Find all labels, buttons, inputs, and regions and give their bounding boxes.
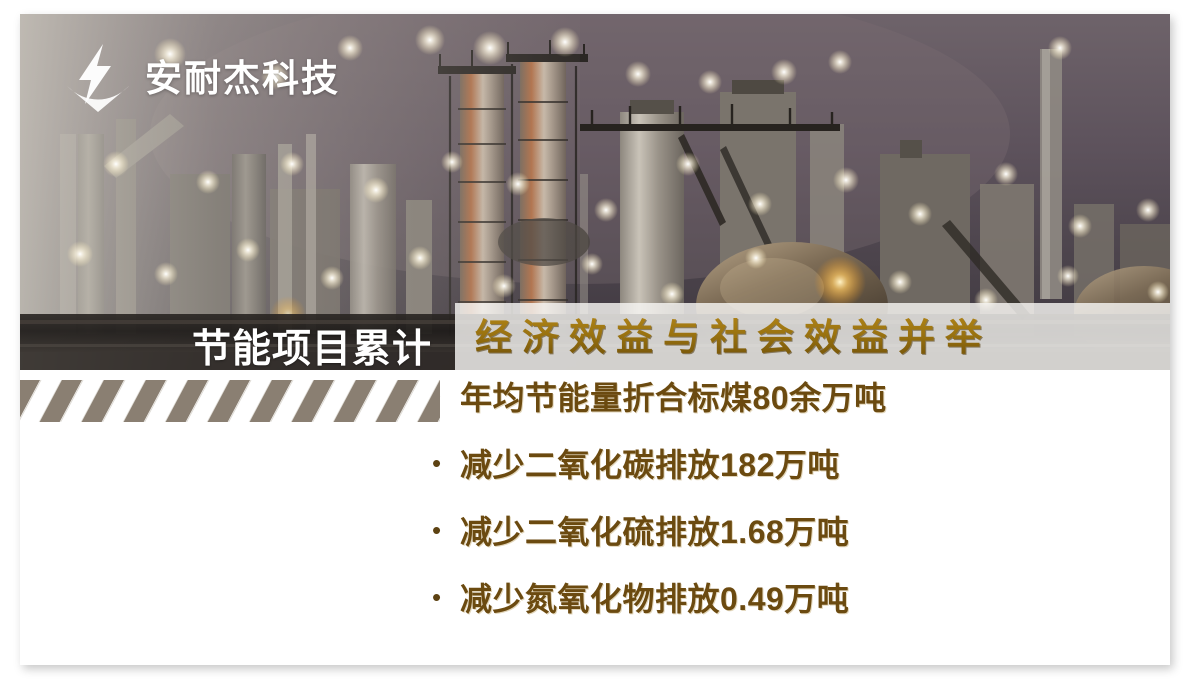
- list-item-label: 减少二氧化硫排放1.68万吨: [460, 516, 849, 548]
- presentation-slide: 安耐杰科技 节能项目累计 经济效益与社会效益并举 经济效益与社会效益并举: [20, 14, 1170, 665]
- brand-logo: 安耐杰科技: [65, 42, 340, 114]
- brand-name: 安耐杰科技: [145, 60, 340, 97]
- bullet-list: • 年均节能量折合标煤80余万吨 • 减少二氧化碳排放182万吨 • 减少二氧化…: [432, 382, 1132, 650]
- bullet-marker-icon: •: [432, 584, 460, 610]
- diagonal-stripe-band: [20, 380, 440, 422]
- lightning-bolt-icon: [65, 42, 131, 114]
- section-kicker: 节能项目累计: [192, 330, 432, 369]
- list-item-label: 减少氮氧化物排放0.49万吨: [460, 583, 849, 615]
- list-item: • 减少氮氧化物排放0.49万吨: [432, 583, 1132, 650]
- list-item-label: 减少二氧化碳排放182万吨: [460, 449, 840, 481]
- list-item: • 减少二氧化硫排放1.68万吨: [432, 516, 1132, 583]
- bullet-marker-icon: •: [432, 450, 460, 476]
- page-title: 经济效益与社会效益并举: [475, 314, 1170, 362]
- list-item-label: 年均节能量折合标煤80余万吨: [460, 382, 887, 414]
- list-item: • 年均节能量折合标煤80余万吨: [432, 382, 1132, 449]
- stripe-pattern-icon: [20, 380, 440, 422]
- list-item: • 减少二氧化碳排放182万吨: [432, 449, 1132, 516]
- bullet-marker-icon: •: [432, 517, 460, 543]
- slide-root: 安耐杰科技 节能项目累计 经济效益与社会效益并举 经济效益与社会效益并举: [0, 0, 1189, 683]
